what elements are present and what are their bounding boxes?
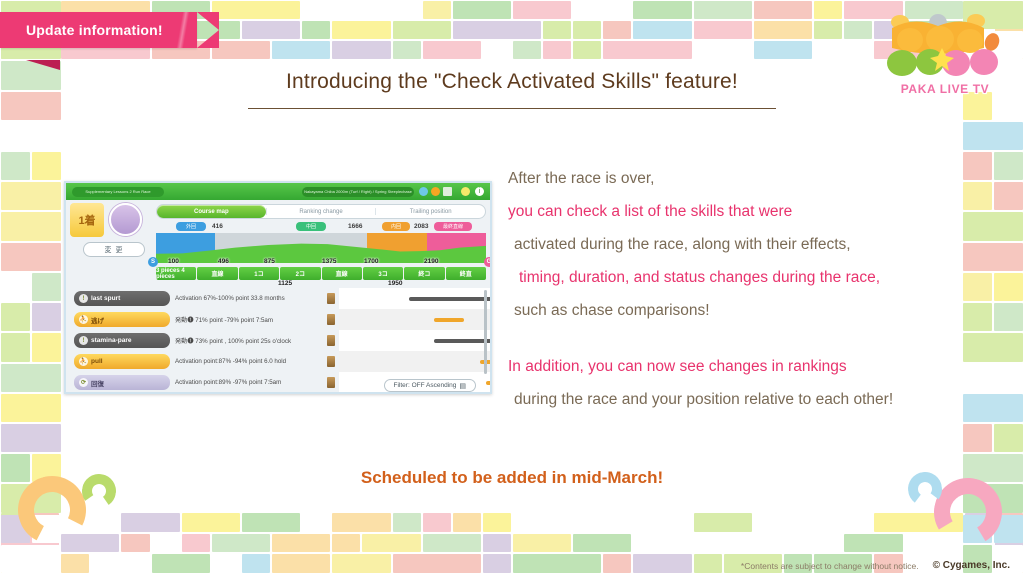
mosaic-tile [32,303,61,331]
mosaic-tile [121,513,179,532]
mosaic-tile [423,513,451,532]
mosaic-tile [242,513,300,532]
course-leg: 終コ [404,267,444,280]
skill-chip[interactable]: !last spurt [74,291,170,306]
mosaic-tile [784,513,812,532]
exclamation-icon: ! [79,336,88,345]
skill-effect-icon [327,293,335,304]
mosaic-tile [362,534,420,553]
skill-name: pull [91,358,103,365]
mosaic-tile [844,534,902,553]
mosaic-tile [754,513,782,532]
skill-row[interactable]: ⛹逃げ発動❶ 71% point -79% point 7:5am [68,309,492,330]
mosaic-tile [212,41,270,59]
mosaic-tile [754,534,842,553]
course-marker: 中回 [296,222,326,231]
filter-button[interactable]: Filter: OFF Ascending ▤ [384,379,476,392]
mosaic-tile [573,513,661,532]
distance-label: 1375 [322,258,336,265]
mosaic-tile [1,243,61,271]
mosaic-tile [393,554,481,573]
view-tabs: Course mapRanking changeTrailing positio… [156,204,486,219]
mosaic-tile [844,21,872,39]
logo-mark-icon [880,14,1010,88]
skill-chip[interactable]: ⛹pull [74,354,170,369]
mosaic-tile [664,513,692,532]
screenshot-body: 1着 変 更 Course mapRanking changeTrailing … [66,200,490,394]
mosaic-tile [513,1,571,19]
mosaic-tile [633,534,691,553]
mosaic-tile [905,534,933,553]
distance-markers: S G 100496875137517002190 [156,258,486,267]
skill-timeline [339,330,492,351]
skill-chip[interactable]: ⟳回復 [74,375,170,390]
mosaic-tile [393,21,451,39]
mosaic-tile [302,1,390,19]
mosaic-tile [1,333,30,361]
mosaic-tile [182,513,240,532]
character-avatar[interactable] [109,203,142,236]
skill-chip[interactable]: !stamina-pare [74,333,170,348]
title-underline [248,108,776,109]
description-line: during the race and your position relati… [508,383,978,416]
start-marker: S [148,257,158,267]
description-line: After the race is over, [508,162,978,195]
mosaic-tile [694,534,752,553]
mosaic-tile [543,41,571,59]
course-leg: 1コ [239,267,279,280]
mosaic-tile [513,534,571,553]
sun-icon[interactable] [431,187,440,196]
goal-marker: G [484,257,492,267]
tab-course-map[interactable]: Course map [157,205,266,218]
ribbon-body: Update information! [0,12,197,48]
mosaic-tile [332,554,390,573]
mosaic-tile [272,554,330,573]
mosaic-tile [1,554,59,573]
rank-trophy-icon: 1着 [70,203,104,237]
mosaic-tile [91,554,149,573]
skill-name: last spurt [91,295,120,302]
skill-row[interactable]: !stamina-pare発動❶ 73% point , 100% point … [68,330,492,351]
description-line: activated during the race, along with th… [508,228,978,261]
mosaic-tile [633,21,691,39]
sort-icon: ▤ [459,382,466,390]
distance-label: 496 [218,258,229,265]
mosaic-tile [513,554,601,573]
skill-row[interactable]: ⛹pullActivation point:87% -94% point 6.0… [68,351,492,372]
description-line: you can check a list of the skills that … [508,195,978,228]
star-icon[interactable] [461,187,470,196]
mosaic-tile [121,534,149,553]
skill-row[interactable]: !last spurtActivation 67%-100% point 33.… [68,288,492,309]
description-text: After the race is over,you can check a l… [508,162,978,416]
copyright-text: © Cygames, Inc. [933,560,1010,571]
course-leg: 3 pieces 4 pieces [156,267,196,280]
course-top-number: 2083 [414,223,428,230]
mosaic-tile [633,554,691,573]
page-title: Introducing the "Check Activated Skills"… [0,70,1024,94]
runner-icon: ⛹ [79,357,88,366]
skill-description: 発動❶ 71% point -79% point 7:5am [175,315,325,324]
paka-live-tv-logo: PAKA LIVE TV [880,14,1010,100]
mosaic-tile [994,273,1023,301]
mosaic-tile [423,534,481,553]
mosaic-tile [994,152,1023,180]
filter-label: Filter: OFF Ascending [394,382,457,389]
mosaic-tile [1,394,61,422]
mosaic-tile [302,21,330,39]
mosaic-tile [573,21,601,39]
mosaic-tile [483,513,511,532]
mosaic-tile [694,21,752,39]
ribbon-gloss [175,12,191,48]
mosaic-tile [272,41,330,59]
skill-chip[interactable]: ⛹逃げ [74,312,170,327]
schedule-note: Scheduled to be added in mid-March! [0,468,1024,488]
mosaic-tile [212,554,240,573]
update-information-ribbon: Update information! [0,12,197,48]
tab-trailing-position[interactable]: Trailing position [376,205,485,218]
mosaic-tile [453,1,511,19]
skill-description: 発動❶ 73% point , 100% point 25s o'clock [175,336,325,345]
mosaic-tile [1,545,61,573]
skill-timeline [339,288,492,309]
globe-icon[interactable] [419,187,428,196]
skill-timeline [339,351,492,372]
mosaic-tile [543,21,571,39]
mosaic-tile [573,534,631,553]
mosaic-tile [272,534,330,553]
mosaic-tile [152,534,180,553]
skill-effect-icon [327,377,335,388]
ribbon-label: Update information! [26,22,163,38]
skill-name: 回復 [91,378,104,388]
skill-name: stamina-pare [91,337,131,344]
description-line: In addition, you can now see changes in … [508,350,978,383]
skill-description: Activation 67%-100% point 33.8 months [175,295,325,302]
timeline-bar [434,318,465,322]
mosaic-tile [573,1,631,19]
mosaic-tile [332,513,390,532]
skill-effect-icon [327,314,335,325]
race-info-pill: Nakayama Chiba 2000m (Turf / Right) / Sp… [302,187,414,197]
mosaic-tile [1,122,61,150]
mosaic-tile [814,21,842,39]
mosaic-tile [963,122,1023,150]
mosaic-tile [694,554,722,573]
mosaic-tile [995,534,1023,553]
course-marker: 最終直線 [434,222,472,231]
distance-label: 1700 [364,258,378,265]
mosaic-tile [483,554,511,573]
tab-ranking-change[interactable]: Ranking change [267,205,376,218]
mosaic-tile [1,212,61,240]
timeline-bar [409,297,492,301]
course-leg: 終直 [446,267,486,280]
mosaic-tile [603,554,631,573]
skill-description: Activation point:89% -97% point 7:5am [175,379,325,386]
course-marker: 内回 [382,222,410,231]
mosaic-tile [573,41,601,59]
book-icon[interactable] [443,187,452,196]
mosaic-tile [963,424,992,452]
skill-description: Activation point:87% -94% point 6.0 hold [175,358,325,365]
mosaic-tile [453,21,541,39]
logo-subtitle: PAKA LIVE TV [880,82,1010,96]
mosaic-tile [694,41,752,59]
mosaic-tile [152,554,210,573]
distance-label: 2190 [424,258,438,265]
mosaic-tile [603,41,691,59]
paragraph-gap [508,327,978,350]
mosaic-tile [694,513,752,532]
mosaic-tile [423,1,451,19]
course-below-number: 1125 [278,280,292,287]
scrollbar[interactable] [484,290,487,374]
character-column: 1着 変 更 [70,203,158,257]
mosaic-tile [603,21,631,39]
course-leg: 直線 [322,267,362,280]
mosaic-tile [754,1,812,19]
mosaic-tile [332,41,390,59]
timeline-bar [486,381,492,385]
course-leg: 2コ [280,267,320,280]
distance-label: 100 [168,258,179,265]
title-area: Introducing the "Check Activated Skills"… [0,70,1024,109]
skill-timeline [339,309,492,330]
recycle-icon: ⟳ [79,378,88,387]
mosaic-tile [483,534,511,553]
mosaic-tile [32,333,61,361]
mosaic-tile [393,1,421,19]
exclamation-icon: ! [79,294,88,303]
course-leg: 直線 [197,267,237,280]
course-top-number: 416 [212,223,223,230]
mosaic-tile [302,513,330,532]
mosaic-tile [332,21,390,39]
mosaic-tile [814,513,872,532]
mosaic-tile [1,273,30,301]
mosaic-tile [423,41,481,59]
mosaic-tile [393,513,421,532]
skill-effect-icon [327,335,335,346]
game-screenshot: Supplementary Lessons 2 Run Race Nakayam… [64,181,492,394]
mosaic-tile [694,1,752,19]
course-leg: 3コ [363,267,403,280]
description-line: timing, duration, and status changes dur… [508,261,978,294]
course-markers: 外回中回内回最終直線41616662083 [156,222,486,233]
promo-slide: Update information! PAKA LIVE TV Introdu… [0,0,1024,574]
description-line: such as chase comparisons! [508,294,978,327]
footer: *Contents are subject to change without … [741,560,1010,571]
course-top-number: 1666 [348,223,362,230]
ribbon-fold [26,60,60,70]
mosaic-tile [332,534,360,553]
mosaic-tile [453,513,481,532]
runner-icon: ⛹ [79,315,88,324]
mosaic-tile [32,273,61,301]
course-marker: 外回 [176,222,206,231]
mosaic-tile [61,554,89,573]
mosaic-tile [814,41,872,59]
skill-list: !last spurtActivation 67%-100% point 33.… [68,288,492,393]
mosaic-tile [1,424,61,452]
course-map: 外回中回内回最終直線41616662083 S G 10049687513751… [156,222,486,284]
mosaic-tile [182,534,210,553]
info-icon[interactable]: i [475,187,484,196]
mosaic-tile [212,1,300,19]
skill-name: 逃げ [91,315,104,325]
mosaic-tile [994,182,1023,210]
distance-label: 875 [264,258,275,265]
mosaic-tile [754,41,812,59]
mosaic-tile [393,41,421,59]
mosaic-tile [212,534,270,553]
mosaic-tile [242,554,270,573]
screenshot-topbar: Supplementary Lessons 2 Run Race Nakayam… [66,183,490,200]
lesson-pill: Supplementary Lessons 2 Run Race [72,187,164,197]
mosaic-tile [1,152,30,180]
mosaic-tile [483,41,511,59]
skill-effect-icon [327,356,335,367]
mosaic-tile [1,303,30,331]
mosaic-tile [513,513,571,532]
mosaic-tile [994,424,1023,452]
disclaimer-text: *Contents are subject to change without … [741,561,919,571]
change-button[interactable]: 変 更 [83,242,145,257]
mosaic-tile [513,41,541,59]
mosaic-tile [633,1,691,19]
mosaic-tile [754,21,812,39]
mosaic-tile [814,1,842,19]
mosaic-tile [1,364,61,392]
mosaic-tile [242,21,300,39]
course-below-number: 1950 [388,280,402,287]
course-legs: 3 pieces 4 pieces直線1コ2コ直線3コ終コ終直 [156,267,486,280]
mosaic-tile [1,182,61,210]
mosaic-tile [994,303,1023,331]
mosaic-tile [32,152,61,180]
